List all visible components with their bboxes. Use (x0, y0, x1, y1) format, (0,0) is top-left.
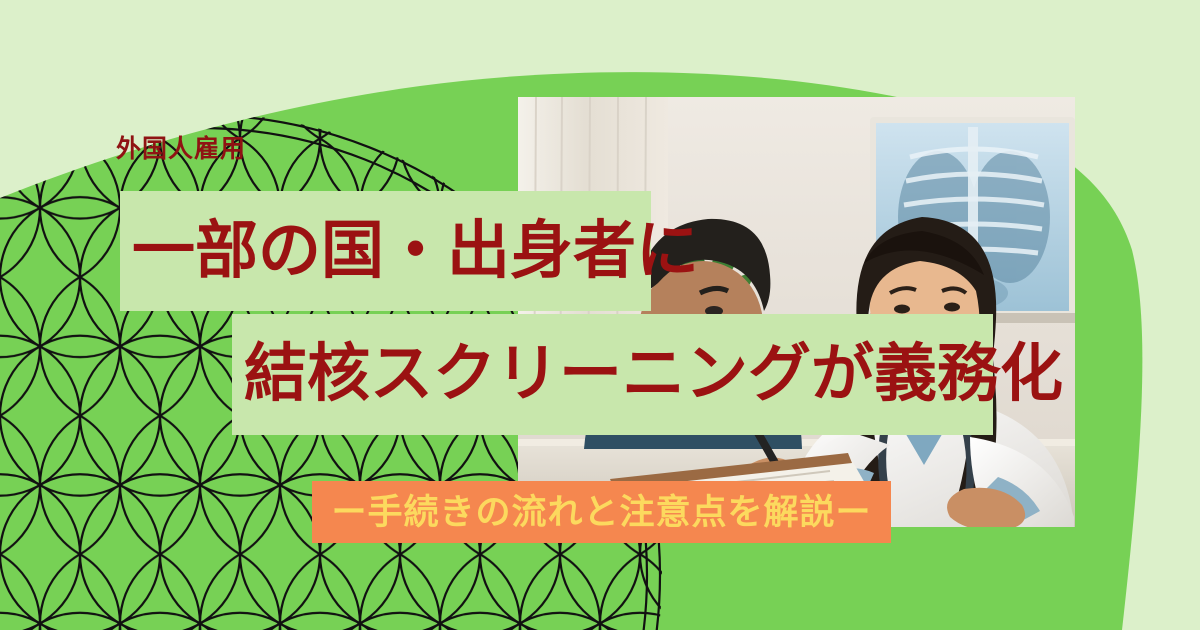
headline-band-2: 結核スクリーニングが義務化 (232, 314, 993, 435)
consultation-photo (518, 97, 1075, 527)
headline-band-1: 一部の国・出身者に (120, 191, 651, 311)
headline-line-2: 結核スクリーニングが義務化 (244, 343, 1063, 406)
headline-line-1: 一部の国・出身者に (132, 220, 699, 283)
eyebrow-label: 外国人雇用 (116, 137, 246, 162)
subtitle-band: ー手続きの流れと注意点を解説ー (312, 481, 891, 543)
subtitle-text: ー手続きの流れと注意点を解説ー (331, 495, 871, 530)
thumbnail-canvas: 外国人雇用 一部の国・出身者に 結核スクリーニングが義務化 ー手続きの流れと注意… (0, 0, 1200, 630)
